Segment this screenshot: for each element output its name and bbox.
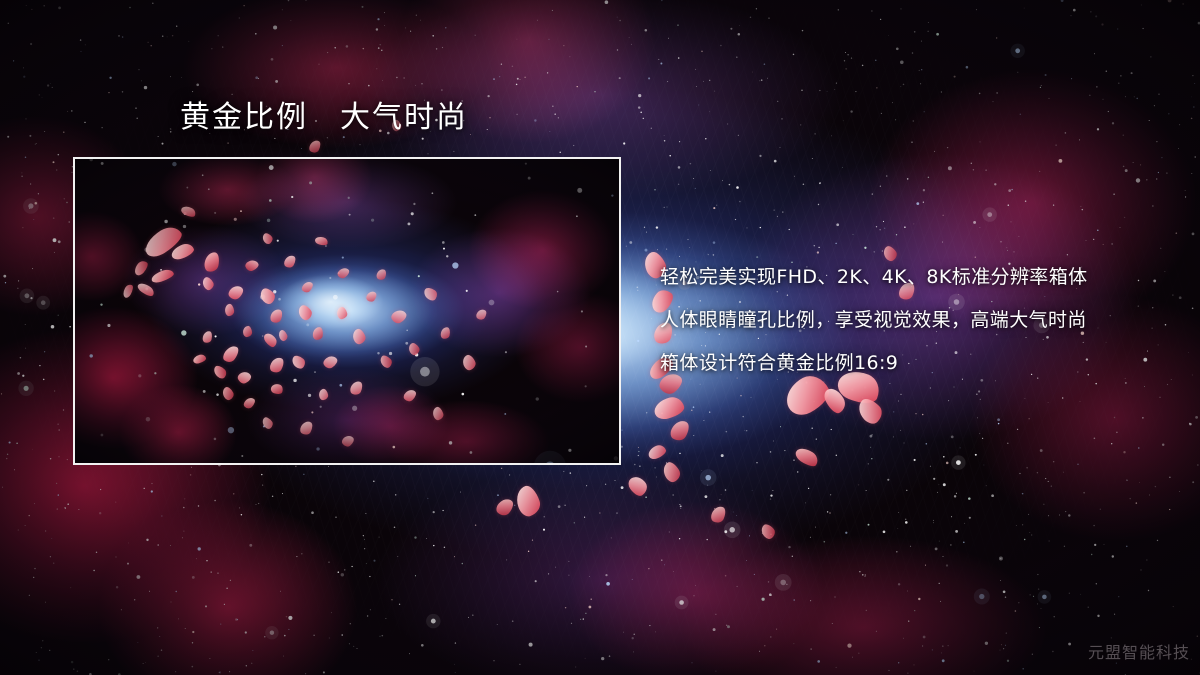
flower-petal [668,417,692,443]
flower-petal [308,138,323,154]
panel-image [75,159,619,463]
framed-image-panel [73,157,621,465]
flower-petal [626,473,650,499]
slide-canvas: 黄金比例 大气时尚 轻松完美实现FHD、2K、4K、8K标准分辨率箱体 人体眼睛… [0,0,1200,675]
page-title: 黄金比例 大气时尚 [180,99,468,137]
panel-vignette [75,159,619,463]
flower-petal [513,483,543,518]
body-text-block: 轻松完美实现FHD、2K、4K、8K标准分辨率箱体 人体眼睛瞳孔比例，享受视觉效… [660,256,1180,385]
watermark-text: 元盟智能科技 [1088,639,1190,663]
flower-petal [793,444,821,469]
flower-petal [494,496,516,519]
flower-petal [646,443,667,461]
body-line-1: 轻松完美实现FHD、2K、4K、8K标准分辨率箱体 [660,256,1180,299]
flower-petal [652,395,686,422]
flower-petal [709,504,728,525]
body-line-3: 箱体设计符合黄金比例16:9 [660,342,1180,385]
flower-petal [759,522,778,541]
body-line-2: 人体眼睛瞳孔比例，享受视觉效果，高端大气时尚 [660,299,1180,342]
flower-petal [660,460,683,485]
